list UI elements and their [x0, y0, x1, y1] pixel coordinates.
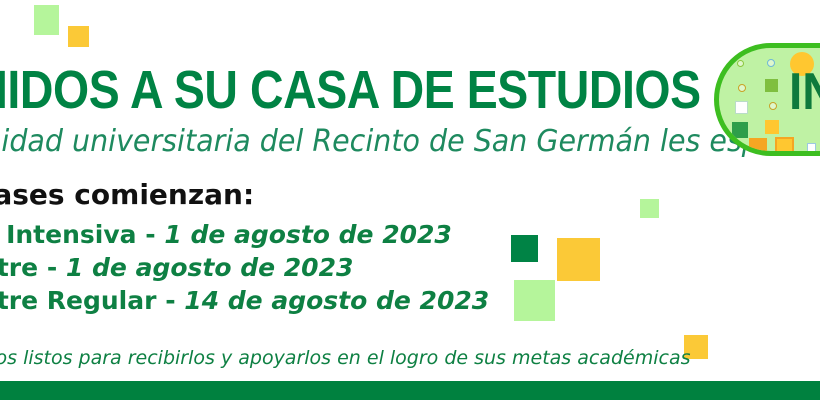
date-row: Semestre Regular - 14 de agosto de 2023 — [0, 284, 804, 317]
date-row: Sesión Intensiva - 1 de agosto de 2023 — [0, 218, 804, 251]
class-start-dates: Las clases comienzan: Sesión Intensiva -… — [0, 178, 804, 317]
date-separator: - — [145, 220, 155, 249]
bottom-green-bar — [0, 381, 820, 400]
badge-dot-icon — [737, 60, 744, 67]
date-term: Sesión Intensiva — [0, 220, 137, 249]
badge-dot-icon — [767, 59, 775, 67]
badge-square-white-icon — [807, 143, 816, 152]
badge-square-white-icon — [735, 101, 748, 114]
date-row: Semestre - 1 de agosto de 2023 — [0, 251, 804, 284]
banner-headline: BIENVENIDOS A SU CASA DE ESTUDIOS — [0, 62, 578, 118]
banner-subheadline: La comunidad universitaria del Recinto d… — [0, 124, 736, 160]
square-light-green-top-left-icon — [34, 5, 59, 35]
banner-tagline: Estamos listos para recibirlos y apoyarl… — [0, 346, 820, 370]
badge-square-darkgreen-icon — [732, 122, 748, 138]
date-separator: - — [165, 286, 175, 315]
badge-square-yellow-icon — [775, 137, 794, 156]
badge-square-green-icon — [765, 79, 778, 92]
badge-dot-icon — [769, 102, 777, 110]
date-value: 14 de agosto de 2023 — [184, 286, 489, 315]
badge-square-yellow-icon — [765, 120, 779, 134]
date-term: Semestre — [0, 253, 38, 282]
inter-logo-badge: INTER — [714, 43, 820, 156]
date-value: 1 de agosto de 2023 — [66, 253, 353, 282]
date-value: 1 de agosto de 2023 — [164, 220, 451, 249]
badge-dot-icon — [738, 84, 746, 92]
date-term: Semestre Regular — [0, 286, 156, 315]
dates-heading: Las clases comienzan: — [0, 178, 804, 212]
date-separator: - — [47, 253, 57, 282]
square-yellow-top-left-icon — [68, 26, 89, 47]
inter-logo-text: INTER — [789, 66, 820, 118]
promotional-banner: BIENVENIDOS A SU CASA DE ESTUDIOS La com… — [0, 0, 820, 400]
